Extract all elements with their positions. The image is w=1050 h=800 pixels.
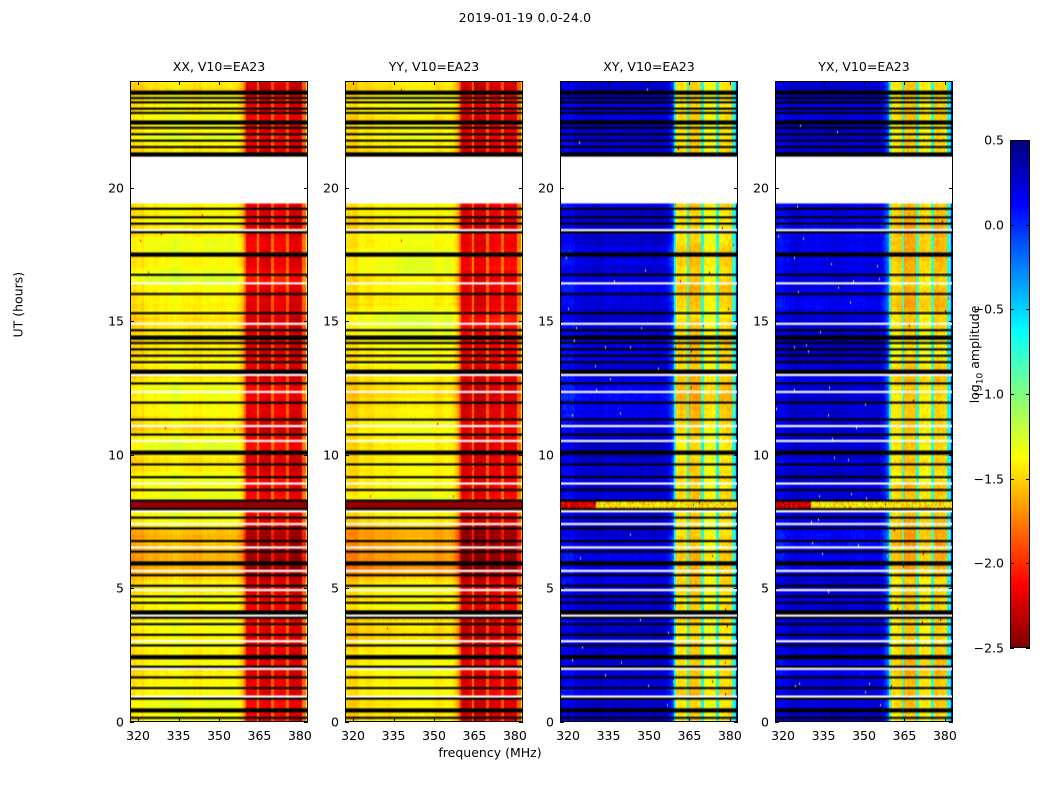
x-tick — [474, 81, 475, 85]
y-tick — [949, 455, 953, 456]
colorbar-label: log10 amplitude — [967, 306, 986, 404]
y-tick — [130, 455, 134, 456]
x-tick — [689, 81, 690, 85]
y-tick — [130, 321, 134, 322]
panel-xx[interactable]: XX, V10=EA23 — [130, 81, 308, 722]
x-tick — [649, 81, 650, 85]
y-tick — [775, 455, 779, 456]
colorbar-tick — [1026, 394, 1030, 395]
x-tick-label: 320 — [556, 728, 580, 743]
y-tick-label: 20 — [520, 180, 554, 195]
y-tick-label: 5 — [305, 581, 339, 596]
x-tick — [824, 81, 825, 85]
x-tick-label: 350 — [422, 728, 446, 743]
x-tick-label: 320 — [771, 728, 795, 743]
y-tick — [560, 455, 564, 456]
y-tick-label: 15 — [735, 314, 769, 329]
x-tick — [609, 718, 610, 722]
y-tick — [775, 588, 779, 589]
x-tick — [300, 81, 301, 85]
axes-frame-yx — [775, 81, 953, 722]
x-tick — [568, 718, 569, 722]
y-tick — [130, 188, 134, 189]
y-tick — [560, 321, 564, 322]
axes-frame-xx — [130, 81, 308, 722]
y-tick — [775, 722, 779, 723]
x-tick-label: 365 — [678, 728, 702, 743]
figure-suptitle: 2019-01-19 0.0-24.0 — [0, 10, 1050, 25]
y-tick-label: 5 — [735, 581, 769, 596]
y-tick-label: 5 — [520, 581, 554, 596]
colorbar-tick — [1010, 648, 1014, 649]
x-tick — [219, 718, 220, 722]
y-tick — [345, 455, 349, 456]
y-tick-label: 15 — [305, 314, 339, 329]
x-tick-label: 320 — [341, 728, 365, 743]
y-tick — [949, 188, 953, 189]
y-tick — [560, 722, 564, 723]
x-tick — [300, 718, 301, 722]
y-tick-label: 10 — [90, 447, 124, 462]
x-tick — [864, 81, 865, 85]
x-tick — [730, 718, 731, 722]
y-tick — [775, 188, 779, 189]
x-tick-label: 350 — [207, 728, 231, 743]
figure-canvas: 2019-01-19 0.0-24.0 XX, V10=EA2332033535… — [0, 0, 1050, 800]
x-tick — [824, 718, 825, 722]
x-tick-label: 350 — [852, 728, 876, 743]
x-tick — [568, 81, 569, 85]
x-tick — [515, 81, 516, 85]
x-tick — [219, 81, 220, 85]
colorbar-tick — [1010, 309, 1014, 310]
y-tick-label: 10 — [735, 447, 769, 462]
x-tick — [434, 81, 435, 85]
y-tick-label: 0 — [305, 715, 339, 730]
y-tick — [949, 321, 953, 322]
x-tick — [259, 718, 260, 722]
colorbar-tick — [1026, 563, 1030, 564]
x-tick-label: 335 — [812, 728, 836, 743]
x-tick-label: 320 — [126, 728, 150, 743]
x-tick-label: 365 — [893, 728, 917, 743]
y-tick — [130, 588, 134, 589]
y-tick-label: 20 — [735, 180, 769, 195]
colorbar-tick-label: 0.0 — [954, 217, 1004, 232]
y-tick — [130, 722, 134, 723]
colorbar-tick — [1010, 225, 1014, 226]
x-tick-label: 380 — [718, 728, 742, 743]
x-tick-label: 335 — [167, 728, 191, 743]
y-tick-label: 10 — [520, 447, 554, 462]
axes-frame-yy — [345, 81, 523, 722]
x-tick — [259, 81, 260, 85]
x-tick — [394, 718, 395, 722]
y-tick — [345, 722, 349, 723]
y-tick-label: 0 — [520, 715, 554, 730]
x-tick — [730, 81, 731, 85]
x-tick — [783, 718, 784, 722]
colorbar-tick — [1026, 140, 1030, 141]
panel-yy[interactable]: YY, V10=EA23 — [345, 81, 523, 722]
axes-frame-xy — [560, 81, 738, 722]
x-tick — [353, 718, 354, 722]
x-tick — [783, 81, 784, 85]
y-tick — [775, 321, 779, 322]
colorbar-tick — [1026, 648, 1030, 649]
y-axis-label: UT (hours) — [11, 272, 26, 338]
x-tick — [515, 718, 516, 722]
x-tick — [179, 718, 180, 722]
y-tick-label: 0 — [735, 715, 769, 730]
y-tick-label: 5 — [90, 581, 124, 596]
y-tick — [949, 588, 953, 589]
x-tick — [904, 718, 905, 722]
colorbar-tick — [1010, 563, 1014, 564]
x-tick — [474, 718, 475, 722]
colorbar-tick — [1026, 225, 1030, 226]
y-tick-label: 0 — [90, 715, 124, 730]
panel-title-yy: YY, V10=EA23 — [345, 59, 523, 74]
colorbar-tick-label: −2.5 — [954, 641, 1004, 656]
y-tick-label: 20 — [305, 180, 339, 195]
y-tick — [949, 722, 953, 723]
x-tick-label: 365 — [463, 728, 487, 743]
panel-xy[interactable]: XY, V10=EA23 — [560, 81, 738, 722]
panel-title-yx: YX, V10=EA23 — [775, 59, 953, 74]
y-tick-label: 10 — [305, 447, 339, 462]
x-tick-label: 380 — [933, 728, 957, 743]
x-tick-label: 365 — [248, 728, 272, 743]
colorbar-tick — [1026, 479, 1030, 480]
x-tick — [945, 81, 946, 85]
x-tick — [394, 81, 395, 85]
x-tick — [864, 718, 865, 722]
colorbar-tick-label: 0.5 — [954, 133, 1004, 148]
colorbar-tick — [1026, 309, 1030, 310]
waterfall-image-yy — [346, 82, 522, 721]
x-tick — [138, 718, 139, 722]
x-tick-label: 380 — [288, 728, 312, 743]
x-axis-label: frequency (MHz) — [345, 745, 635, 760]
y-tick — [560, 588, 564, 589]
x-tick — [649, 718, 650, 722]
x-tick — [138, 81, 139, 85]
y-tick-label: 15 — [520, 314, 554, 329]
y-tick — [345, 588, 349, 589]
colorbar-tick — [1010, 140, 1014, 141]
waterfall-image-xy — [561, 82, 737, 721]
colorbar-tick-label: −1.5 — [954, 471, 1004, 486]
y-tick — [345, 321, 349, 322]
panel-title-xy: XY, V10=EA23 — [560, 59, 738, 74]
y-tick — [345, 188, 349, 189]
x-tick — [179, 81, 180, 85]
y-tick — [560, 188, 564, 189]
x-tick-label: 335 — [382, 728, 406, 743]
x-tick — [945, 718, 946, 722]
x-tick — [689, 718, 690, 722]
panel-title-xx: XX, V10=EA23 — [130, 59, 308, 74]
panel-yx[interactable]: YX, V10=EA23 — [775, 81, 953, 722]
colorbar-tick — [1010, 394, 1014, 395]
y-tick-label: 15 — [90, 314, 124, 329]
colorbar-tick — [1010, 479, 1014, 480]
x-tick — [904, 81, 905, 85]
x-tick-label: 350 — [637, 728, 661, 743]
waterfall-image-xx — [131, 82, 307, 721]
x-tick-label: 335 — [597, 728, 621, 743]
y-tick-label: 20 — [90, 180, 124, 195]
waterfall-image-yx — [776, 82, 952, 721]
x-tick-label: 380 — [503, 728, 527, 743]
colorbar-tick-label: −2.0 — [954, 556, 1004, 571]
x-tick — [609, 81, 610, 85]
x-tick — [434, 718, 435, 722]
x-tick — [353, 81, 354, 85]
